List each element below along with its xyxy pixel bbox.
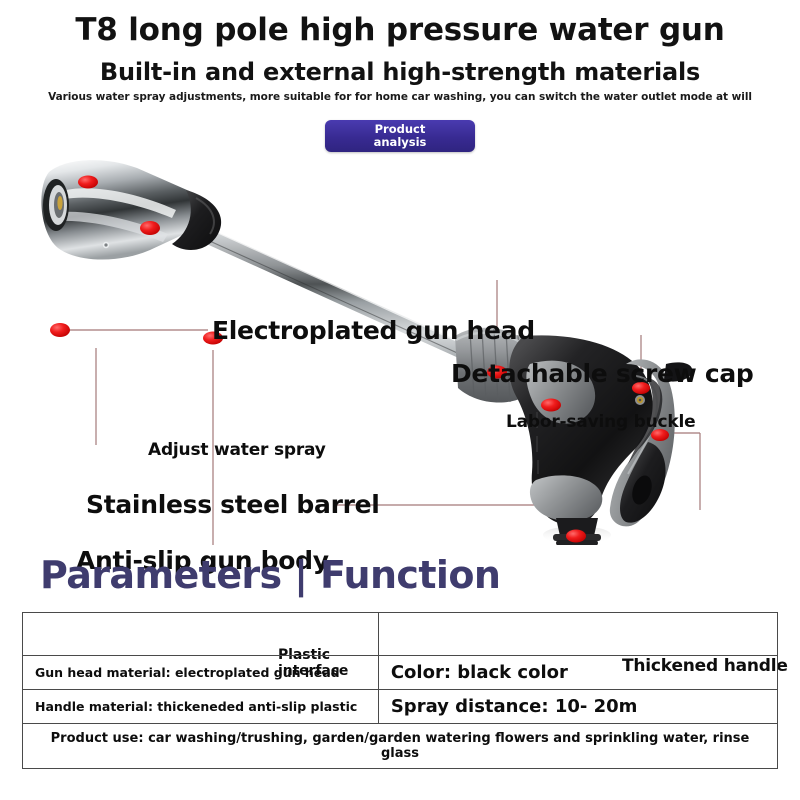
table-row-empty xyxy=(23,613,778,656)
product-tagline: Various water spray adjustments, more su… xyxy=(0,91,800,103)
cell-spray-distance: Spray distance: 10- 20m xyxy=(378,690,777,724)
product-analysis-badge: Product analysis xyxy=(325,120,475,152)
cell-product-use: Product use: car washing/trushing, garde… xyxy=(23,724,778,769)
badge-line-2: analysis xyxy=(325,136,475,149)
callout-screw-cap-label: Detachable screw cap xyxy=(451,359,754,388)
product-infographic: T8 long pole high pressure water gun Bui… xyxy=(0,0,800,800)
badge-line-1: Product xyxy=(325,123,475,136)
product-subtitle: Built-in and external high-strength mate… xyxy=(0,58,800,86)
cell-empty-right xyxy=(378,613,777,656)
cell-empty-left xyxy=(23,613,379,656)
cell-gun-head-material: Gun head material: electroplated gun hea… xyxy=(23,656,379,690)
parameters-section-title: Parameters | Function xyxy=(40,553,500,597)
callout-labor-buckle-label: Labor-saving buckle xyxy=(506,412,696,432)
parameters-table: Gun head material: electroplated gun hea… xyxy=(22,612,778,769)
callout-gun-head-label: Electroplated gun head xyxy=(212,316,535,345)
water-gun-illustration xyxy=(0,150,800,545)
cell-color: Color: black color xyxy=(378,656,777,690)
callout-steel-barrel-label: Stainless steel barrel xyxy=(86,490,380,519)
table-row: Gun head material: electroplated gun hea… xyxy=(23,656,778,690)
product-photo: Electroplated gun head Detachable screw … xyxy=(0,150,800,545)
cell-handle-material: Handle material: thickeneded anti-slip p… xyxy=(23,690,379,724)
product-title: T8 long pole high pressure water gun xyxy=(0,12,800,48)
table-row: Handle material: thickeneded anti-slip p… xyxy=(23,690,778,724)
callout-adjust-spray-label: Adjust water spray xyxy=(148,440,326,460)
table-row-product-use: Product use: car washing/trushing, garde… xyxy=(23,724,778,769)
